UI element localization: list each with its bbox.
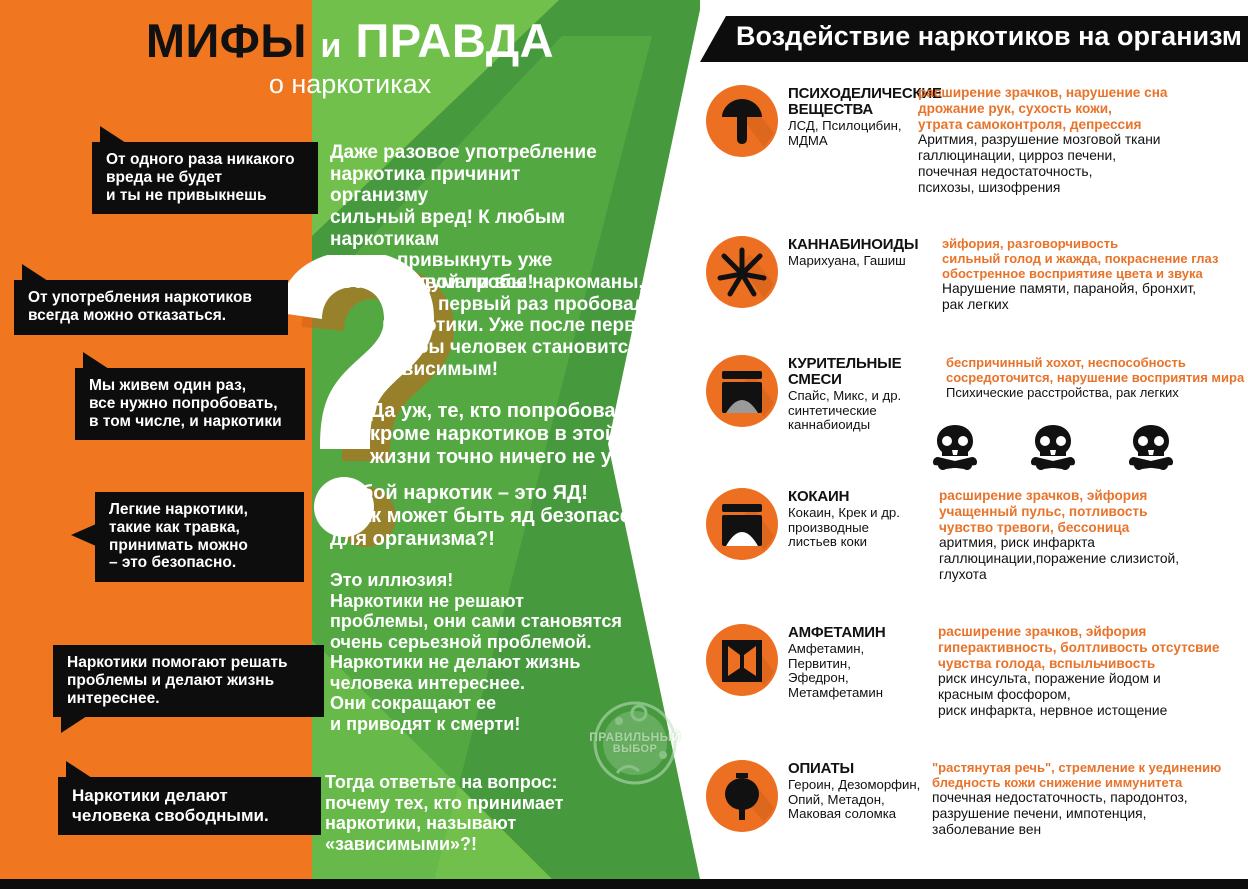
myth-bubble: Легкие наркотики, такие как травка, прин…	[95, 492, 304, 582]
drug-title: АМФЕТАМИН	[788, 625, 928, 641]
drug-name-block: КОКАИН Кокаин, Крек и др. производные ли…	[788, 489, 928, 550]
drug-consequences: почечная недостаточность, пародонтоз, ра…	[932, 790, 1248, 838]
title-truth: ПРАВДА	[355, 14, 554, 67]
jar-icon	[706, 355, 778, 427]
watermark-line1: ПРАВИЛЬНЫЙ	[575, 731, 695, 744]
myth-bubble: Наркотики помогают решать проблемы и дел…	[53, 645, 324, 717]
watermark-logo: ПРАВИЛЬНЫЙ ВЫБОР	[575, 697, 695, 789]
drug-substances: Амфетамин, Первитин, Эфедрон, Метамфетам…	[788, 642, 928, 700]
myth-text: От употребления наркотиков всегда можно …	[28, 289, 252, 324]
drug-effects: "растянутая речь", стремление к уединени…	[932, 760, 1248, 838]
myth-text: Легкие наркотики, такие как травка, прин…	[109, 501, 248, 571]
drug-effects: расширение зрачков, эйфория гиперактивно…	[938, 624, 1248, 719]
mushroom-icon	[706, 85, 778, 157]
drug-name-block: ПСИХОДЕЛИЧЕСКИЕ ВЕЩЕСТВА ЛСД, Псилоцибин…	[788, 86, 928, 148]
title-myths: МИФЫ	[146, 14, 307, 67]
drug-consequences: Аритмия, разрушение мозговой ткани галлю…	[918, 132, 1248, 196]
drug-consequences: риск инсульта, поражение йодом и красным…	[938, 671, 1248, 719]
drug-symptoms: расширение зрачков, нарушение сна дрожан…	[918, 85, 1248, 132]
myth-text: Мы живем один раз, все нужно попробовать…	[89, 377, 282, 430]
drug-effects: беспричинный хохот, неспособность сосред…	[946, 355, 1248, 400]
myth-bubble: Мы живем один раз, все нужно попробовать…	[75, 368, 305, 440]
drug-symptoms: расширение зрачков, эйфория гиперактивно…	[938, 624, 1248, 671]
right-panel-header-text: Воздействие наркотиков на организм	[736, 21, 1242, 52]
cannabis-leaf-icon	[706, 236, 778, 308]
drug-substances: ЛСД, Псилоцибин, МДМА	[788, 119, 928, 148]
drug-name-block: КАННАБИНОИДЫ Марихуана, Гашиш	[788, 237, 928, 269]
myth-text: Наркотики помогают решать проблемы и дел…	[67, 654, 288, 707]
drug-symptoms: расширение зрачков, эйфория учащенный пу…	[939, 488, 1248, 535]
drug-consequences: Нарушение памяти, паранойя, бронхит, рак…	[942, 281, 1248, 313]
truth-text: Так думали все наркоманы, когда первый р…	[382, 272, 672, 380]
title-and: и	[320, 27, 341, 65]
drug-title: КОКАИН	[788, 489, 928, 505]
skull-crossbones-icon	[932, 423, 978, 471]
drug-consequences: Психические расстройства, рак легких	[946, 385, 1248, 400]
drug-name-block: ОПИАТЫ Героин, Дезоморфин, Опий, Метадон…	[788, 761, 928, 822]
drug-substances: Спайс, Микс, и др. синтетические каннаби…	[788, 389, 928, 433]
drug-effects: эйфория, разговорчивость сильный голод и…	[942, 236, 1248, 313]
pill-packet-icon	[706, 624, 778, 696]
myth-bubble: От одного раза никакого вреда не будет и…	[92, 142, 318, 214]
skull-crossbones-icon	[1128, 423, 1174, 471]
drug-title: КАННАБИНОИДЫ	[788, 237, 928, 253]
footer-bar	[0, 879, 1248, 889]
truth-text: Любой наркотик – это ЯД! А как может быт…	[330, 482, 680, 550]
drug-substances: Марихуана, Гашиш	[788, 254, 928, 269]
cocaine-jar-icon	[706, 488, 778, 560]
truth-text: Даже разовое употребление наркотика прич…	[330, 142, 620, 294]
poppy-pod-icon	[706, 760, 778, 832]
title-subtitle: о наркотиках	[0, 69, 700, 100]
drug-name-block: АМФЕТАМИН Амфетамин, Первитин, Эфедрон, …	[788, 625, 928, 700]
skull-row	[932, 423, 1174, 471]
drug-title: ПСИХОДЕЛИЧЕСКИЕ ВЕЩЕСТВА	[788, 86, 928, 118]
drug-title: КУРИТЕЛЬНЫЕ СМЕСИ	[788, 356, 928, 388]
drug-symptoms: "растянутая речь", стремление к уединени…	[932, 760, 1248, 790]
drug-substances: Кокаин, Крек и др. производные листьев к…	[788, 506, 928, 550]
watermark-line2: ВЫБОР	[575, 744, 695, 756]
drug-name-block: КУРИТЕЛЬНЫЕ СМЕСИ Спайс, Микс, и др. син…	[788, 356, 928, 433]
page-title: МИФЫ и ПРАВДА о наркотиках	[0, 16, 700, 100]
drug-symptoms: беспричинный хохот, неспособность сосред…	[946, 355, 1248, 385]
drug-effects: расширение зрачков, нарушение сна дрожан…	[918, 85, 1248, 196]
drug-effects: расширение зрачков, эйфория учащенный пу…	[939, 488, 1248, 583]
myth-text: От одного раза никакого вреда не будет и…	[106, 151, 295, 204]
right-panel-header: Воздействие наркотиков на организм	[700, 16, 1248, 62]
drug-title: ОПИАТЫ	[788, 761, 928, 777]
skull-crossbones-icon	[1030, 423, 1076, 471]
myth-bubble: Наркотики делают человека свободными.	[58, 777, 321, 835]
myth-text: Наркотики делают человека свободными.	[72, 786, 269, 825]
infographic-poster: МИФЫ и ПРАВДА о наркотиках От одного раз…	[0, 0, 1248, 889]
drug-consequences: аритмия, риск инфаркта галлюцинации,пора…	[939, 535, 1248, 583]
myth-bubble: От употребления наркотиков всегда можно …	[14, 280, 288, 335]
drug-symptoms: эйфория, разговорчивость сильный голод и…	[942, 236, 1248, 281]
truth-text: Да уж, те, кто попробовал, кроме наркоти…	[370, 400, 690, 468]
drug-substances: Героин, Дезоморфин, Опий, Метадон, Маков…	[788, 778, 928, 822]
